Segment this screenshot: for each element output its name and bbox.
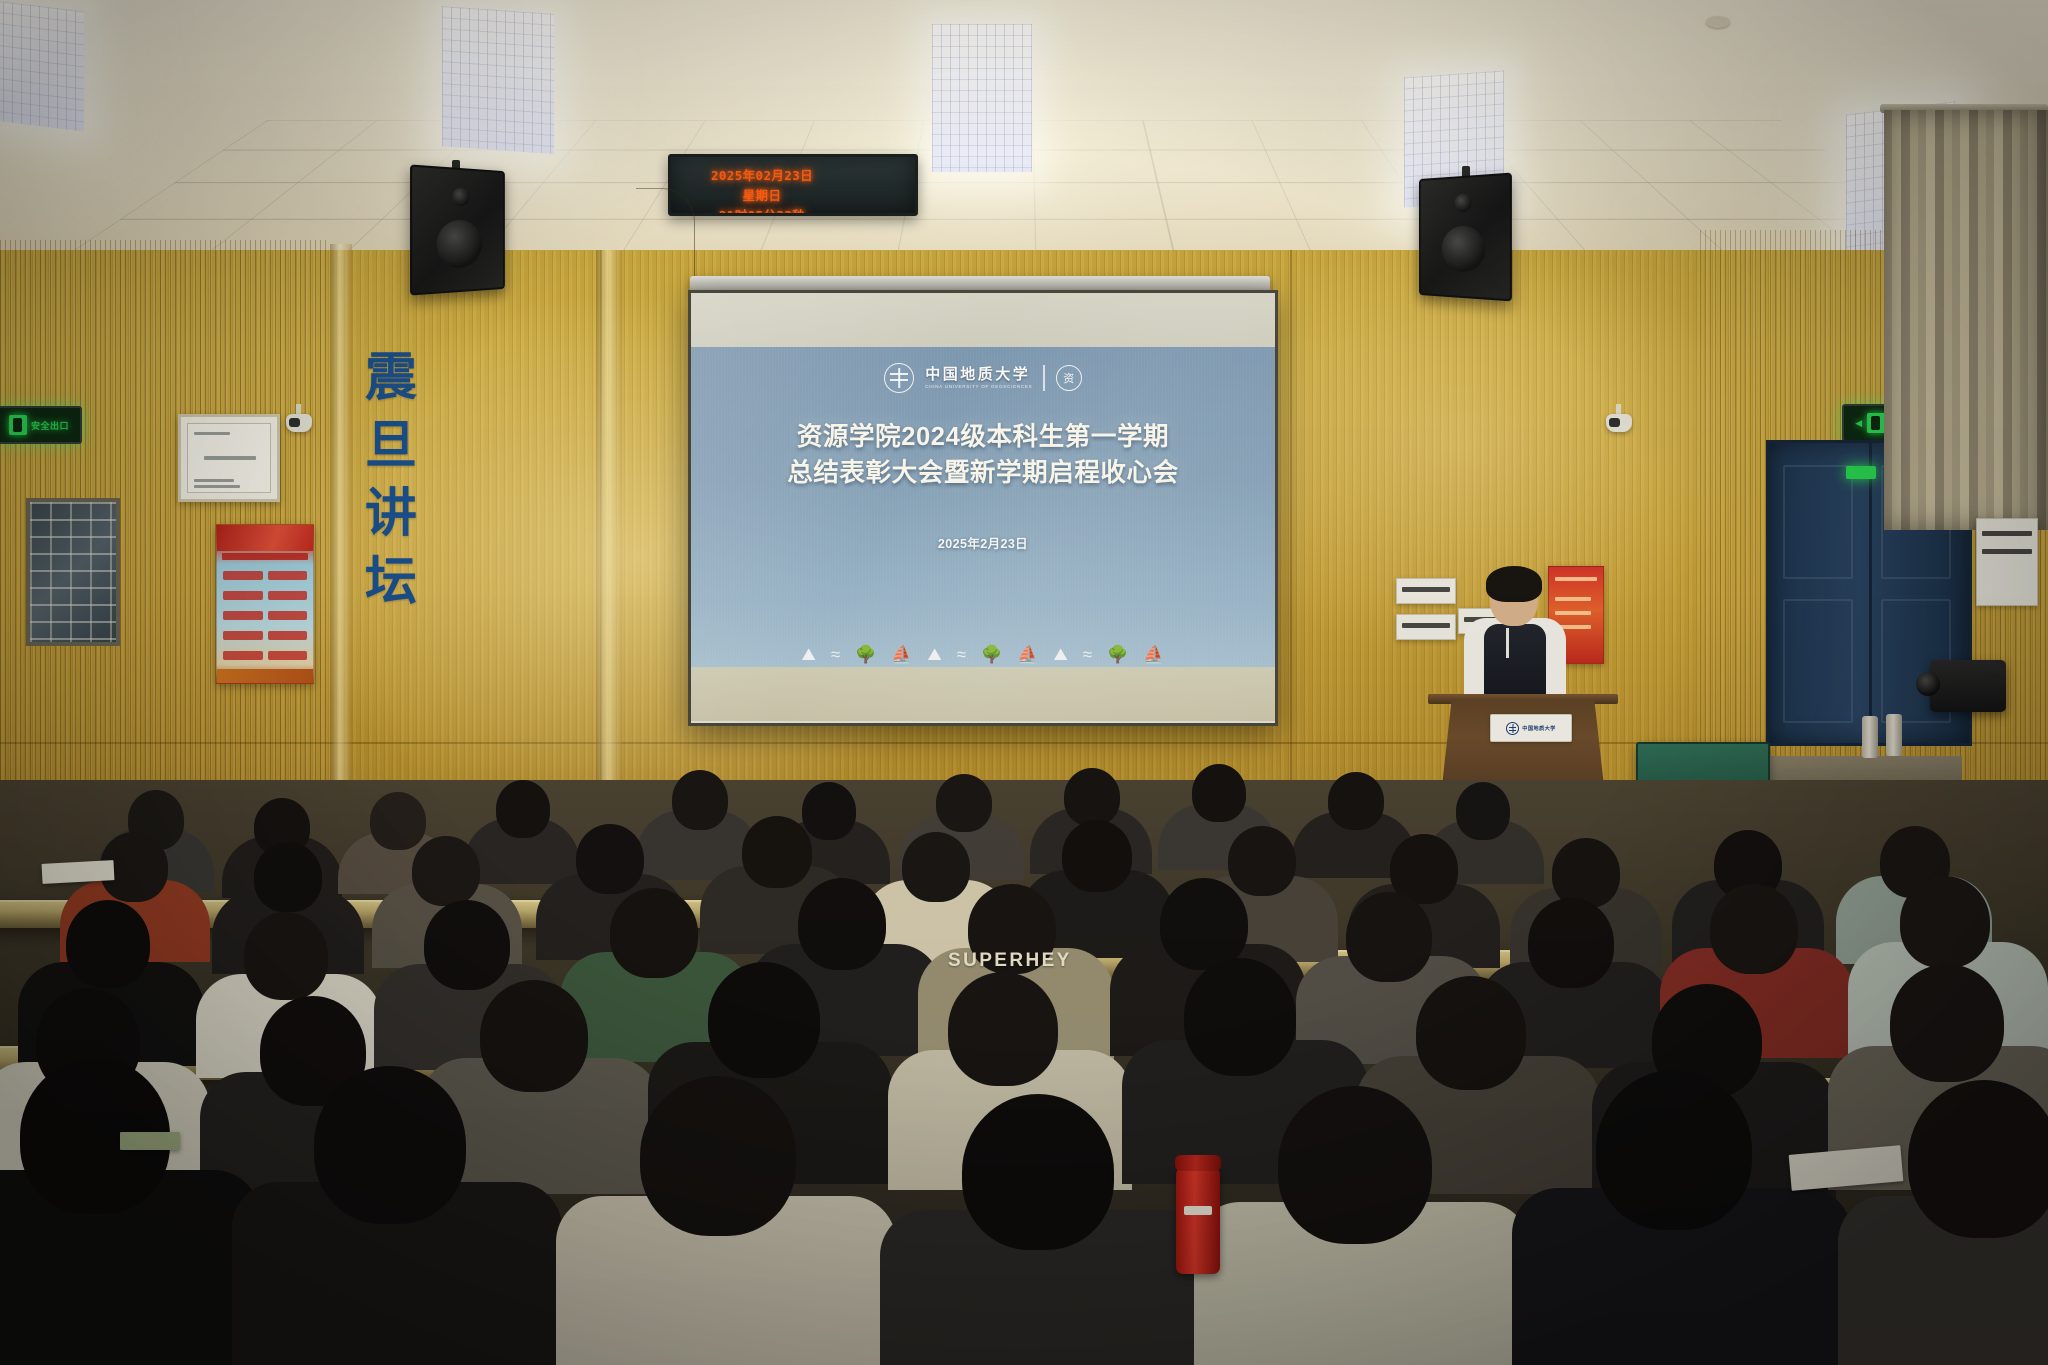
audience-head (902, 832, 970, 902)
screen-cable (636, 188, 695, 285)
poster-item (268, 591, 308, 600)
wall-speaker-right (1419, 173, 1512, 302)
plate-text-line (1982, 549, 2032, 554)
poster-item (268, 571, 308, 580)
department-seal-icon: 资 (1056, 365, 1082, 391)
poster-item (268, 611, 308, 620)
wall-info-plate (1396, 614, 1456, 640)
security-camera-icon (1606, 414, 1632, 432)
poster-item (268, 651, 308, 660)
lecture-hall-photo: 2025年02月23日 星期日 21时05分33秒 中国地质大学 CHINA U… (0, 0, 2048, 1365)
audience-head (1192, 764, 1246, 822)
poster-item (223, 631, 263, 640)
audience-head (640, 1076, 796, 1236)
led-weekday: 星期日 (743, 185, 782, 204)
notice-line (194, 479, 234, 482)
poster-item (223, 611, 263, 620)
water-bottle (1176, 1166, 1220, 1274)
university-name-en: CHINA UNIVERSITY OF GEOSCIENCES (925, 385, 1032, 390)
audience-head (1328, 772, 1384, 830)
poster-item (223, 651, 263, 660)
slide-title-line2: 总结表彰大会暨新学期启程收心会 (691, 455, 1275, 491)
audience-head (1528, 898, 1614, 988)
exit-sign-label: 安全出口 (31, 419, 69, 432)
motif-boat-icon: ⛵ (1143, 646, 1164, 663)
calligraphy-char-2: 旦 (365, 420, 417, 472)
motif-wave-icon: ≈ (831, 646, 840, 663)
logo-divider (1043, 365, 1044, 391)
motif-mountain-icon: ⛰ (802, 646, 816, 663)
motif-mountain-icon: ⛰ (928, 646, 942, 663)
motif-mountain-icon: ⛰ (1053, 646, 1067, 663)
speaker-tweeter (452, 188, 469, 207)
speaker-tweeter (1455, 194, 1472, 213)
university-seal-icon (884, 363, 914, 393)
desk-paper (120, 1132, 180, 1150)
motif-boat-icon: ⛵ (1017, 646, 1038, 663)
audience-head (314, 1066, 466, 1224)
wall-info-plate (1396, 578, 1456, 604)
audience-head (496, 780, 550, 838)
audience-head (254, 842, 322, 912)
slide-date: 2025年2月23日 (691, 533, 1275, 552)
audience-head (708, 962, 820, 1078)
motif-wave-icon: ≈ (957, 646, 966, 663)
audience-head (1228, 826, 1296, 896)
speaker-cone (437, 220, 482, 269)
audience-head (1160, 878, 1248, 970)
camera-arm (296, 404, 301, 414)
smoke-detector-icon (1706, 16, 1730, 28)
wall-calligraphy: 震 旦 讲 坛 (346, 352, 436, 608)
calligraphy-char-1: 震 (365, 352, 417, 404)
desk-paper (42, 860, 115, 884)
notice-frame-inner (187, 423, 271, 493)
audience-head (1062, 820, 1132, 892)
door-exit-indicator (1846, 466, 1876, 479)
motif-forest-icon: 🌳 (855, 646, 876, 663)
thermos-flask (1886, 714, 1902, 756)
wall-notice-right (1976, 518, 2038, 606)
door-panel (1783, 465, 1853, 579)
presenter-person (1460, 570, 1570, 710)
podium-nameplate-text: 中国地质大学 (1522, 725, 1556, 732)
poster-footer-band (217, 669, 313, 683)
university-name-cn: 中国地质大学 (925, 367, 1032, 382)
door-split (1869, 443, 1872, 743)
audience-head (480, 980, 588, 1092)
bottle-cap (1175, 1155, 1221, 1171)
camera-arm (1616, 404, 1621, 414)
slide-title: 资源学院2024级本科生第一学期 总结表彰大会暨新学期启程收心会 (691, 419, 1275, 491)
plate-text-line (1402, 587, 1450, 592)
thermos-flask (1862, 716, 1878, 758)
wall-column-highlight (596, 250, 622, 810)
motif-boat-icon: ⛵ (891, 646, 912, 663)
audience-head (1596, 1070, 1752, 1230)
calligraphy-char-4: 坛 (365, 556, 417, 608)
plate-text-line (1402, 623, 1450, 628)
slide-motif-strip: ⛰ ≈ 🌳 ⛵ ⛰ ≈ 🌳 ⛵ ⛰ ≈ 🌳 ⛵ (691, 633, 1275, 663)
audience-head (962, 1094, 1114, 1250)
speaker-cone (1442, 226, 1486, 273)
projection-screen: 中国地质大学 CHINA UNIVERSITY OF GEOSCIENCES 资… (688, 290, 1278, 726)
audience-head (1552, 838, 1620, 908)
wall-seam (1290, 250, 1292, 810)
plate-text-line (1982, 531, 2032, 536)
led-clock-lines: 2025年02月23日 星期日 21时05分33秒 (687, 165, 837, 216)
slide-logo-row: 中国地质大学 CHINA UNIVERSITY OF GEOSCIENCES 资 (691, 363, 1275, 393)
audience-head (672, 770, 728, 830)
screen-top-margin (691, 293, 1275, 347)
presentation-slide: 中国地质大学 CHINA UNIVERSITY OF GEOSCIENCES 资… (691, 347, 1275, 667)
slide-fabric-texture (691, 347, 1275, 667)
video-camera (1930, 660, 2006, 712)
wall-poster-left (216, 524, 314, 684)
audience-head (1346, 892, 1432, 982)
audience-head (802, 782, 856, 840)
notice-line (194, 485, 240, 488)
running-person-icon (9, 415, 27, 435)
ceiling-light-panel (442, 6, 554, 154)
notice-line (194, 432, 230, 435)
motif-forest-icon: 🌳 (1107, 646, 1128, 663)
audience-head (576, 824, 644, 894)
audience-head (798, 878, 886, 970)
poster-title-bar (222, 553, 308, 560)
window-curtain (1884, 110, 2048, 530)
door-panel (1783, 599, 1853, 723)
poster-item-grid (223, 571, 307, 667)
audience-head (1710, 884, 1798, 974)
slide-title-line1: 资源学院2024级本科生第一学期 (691, 419, 1275, 455)
led-date: 2025年02月23日 (711, 165, 813, 184)
audience-head (370, 792, 426, 850)
audience-head (1416, 976, 1526, 1090)
audience-head (1064, 768, 1120, 826)
notice-frame (178, 414, 280, 502)
jacket-brand-text: SUPERHEY (948, 950, 1072, 972)
university-name-block: 中国地质大学 CHINA UNIVERSITY OF GEOSCIENCES (925, 367, 1032, 390)
wall-speaker-left (410, 164, 505, 295)
ceiling-light-panel (932, 24, 1032, 172)
motif-forest-icon: 🌳 (981, 646, 1002, 663)
audience-head (742, 816, 812, 888)
led-time: 21时05分33秒 (719, 205, 805, 216)
emergency-exit-sign-left: 安全出口 (0, 406, 82, 444)
poster-item (268, 631, 308, 640)
poster-header-banner (217, 525, 313, 551)
poster-item (223, 591, 263, 600)
notice-line (204, 456, 256, 460)
running-person-icon (1867, 413, 1885, 433)
hoodie-drawstring (1506, 628, 1509, 658)
audience-head (948, 972, 1058, 1086)
audience-head (244, 912, 328, 1000)
presenter-hair (1486, 566, 1542, 602)
audience-head (1908, 1080, 2048, 1238)
exit-sign-label-left: ◀ (1855, 418, 1862, 429)
audience-head (1890, 964, 2004, 1082)
audience-head (424, 900, 510, 990)
audience-head (66, 900, 150, 988)
led-clock-sign: 2025年02月23日 星期日 21时05分33秒 (668, 154, 918, 216)
poster-item (223, 571, 263, 580)
bottle-label (1184, 1206, 1212, 1215)
podium-nameplate: 中国地质大学 (1490, 714, 1572, 742)
screen-bottom-margin (691, 667, 1275, 721)
motif-wave-icon: ≈ (1083, 646, 1092, 663)
audience-head (610, 888, 698, 978)
university-seal-icon (1506, 722, 1519, 735)
security-camera-icon (286, 414, 312, 432)
audience-head (1278, 1086, 1432, 1244)
audience-head (1184, 958, 1296, 1076)
audience-head (1456, 782, 1510, 840)
calligraphy-char-3: 讲 (365, 488, 417, 540)
audience-head (1900, 876, 1990, 968)
side-window (26, 498, 120, 646)
audience-head (412, 836, 480, 906)
audience-head (936, 774, 992, 832)
ceiling-light-panel (0, 0, 84, 131)
